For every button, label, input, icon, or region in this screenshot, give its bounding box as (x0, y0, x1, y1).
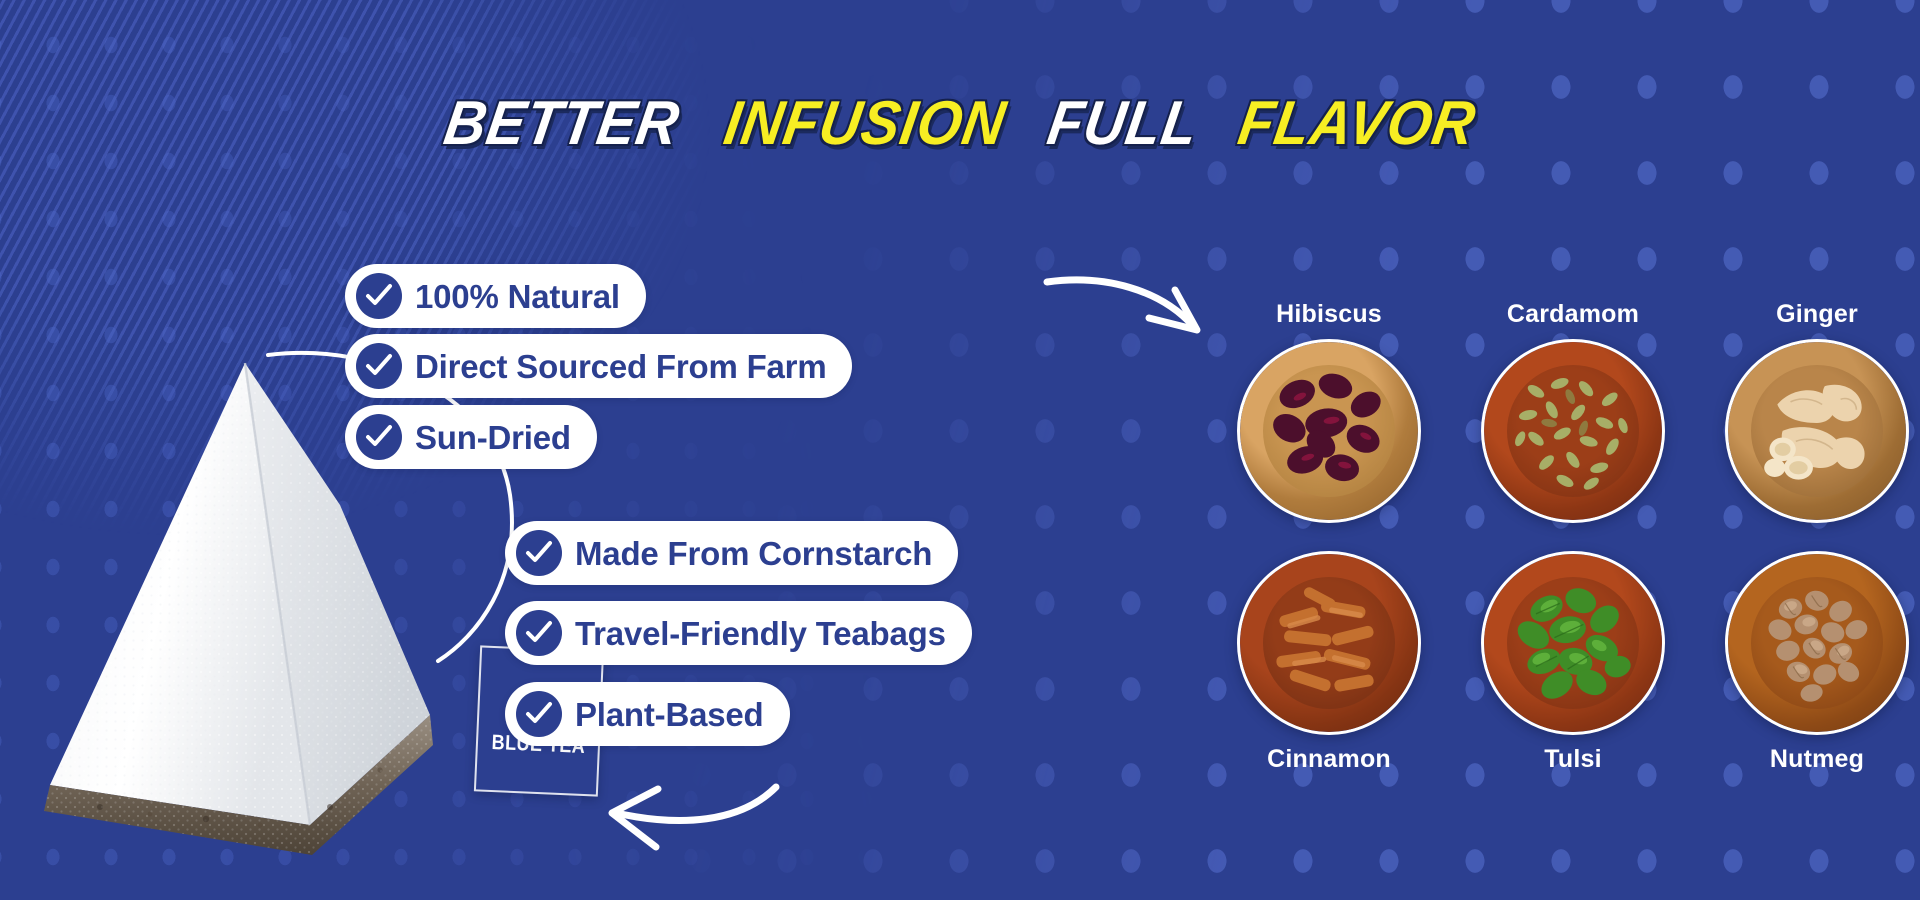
check-icon (356, 414, 402, 460)
ingredient-grid: Hibiscus (1228, 300, 1918, 774)
check-icon (516, 691, 562, 737)
ingredient-label: Nutmeg (1770, 745, 1864, 774)
check-icon (356, 273, 402, 319)
ingredient-tulsi: Tulsi (1472, 541, 1674, 774)
feature-pill-made-from-cornstarch[interactable]: Made From Cornstarch (505, 521, 958, 585)
feature-label: Sun-Dried (415, 421, 571, 454)
feature-pill-plant-based[interactable]: Plant-Based (505, 682, 790, 746)
feature-pill-direct-sourced[interactable]: Direct Sourced From Farm (345, 334, 852, 398)
check-icon (516, 610, 562, 656)
headline-word-4: FLAVOR (1230, 88, 1483, 159)
ingredient-cinnamon: Cinnamon (1228, 541, 1430, 774)
feature-label: Plant-Based (575, 698, 764, 731)
ingredient-cardamom: Cardamom (1472, 300, 1674, 533)
ingredient-label: Cardamom (1507, 300, 1639, 329)
ingredient-label: Cinnamon (1267, 745, 1391, 774)
ingredient-hibiscus: Hibiscus (1228, 300, 1430, 533)
promo-banner: BETTER INFUSION FULL FLAVOR (0, 0, 1920, 900)
arrow-to-teabag-icon (600, 775, 780, 860)
ingredient-bowl (1481, 551, 1665, 735)
ingredient-bowl (1725, 551, 1909, 735)
check-icon (356, 343, 402, 389)
headline-word-2: INFUSION (717, 88, 1014, 159)
headline: BETTER INFUSION FULL FLAVOR (0, 88, 1920, 159)
feature-label: Direct Sourced From Farm (415, 350, 826, 383)
check-icon (516, 530, 562, 576)
feature-pill-travel-friendly-teabags[interactable]: Travel-Friendly Teabags (505, 601, 972, 665)
ingredient-label: Ginger (1776, 300, 1858, 329)
feature-label: Made From Cornstarch (575, 537, 932, 570)
ingredient-nutmeg: Nutmeg (1716, 541, 1918, 774)
feature-pill-sun-dried[interactable]: Sun-Dried (345, 405, 597, 469)
ingredient-bowl (1237, 551, 1421, 735)
headline-word-1: BETTER (437, 88, 687, 159)
ingredient-bowl (1481, 339, 1665, 523)
ingredient-label: Tulsi (1544, 745, 1601, 774)
ingredient-row-top: Hibiscus (1228, 300, 1918, 533)
headline-word-3: FULL (1040, 88, 1206, 159)
arrow-to-ingredients-icon (1043, 268, 1223, 348)
ingredient-label: Hibiscus (1276, 300, 1382, 329)
ingredient-bowl (1725, 339, 1909, 523)
feature-label: 100% Natural (415, 280, 620, 313)
ingredient-row-bottom: Cinnamon (1228, 541, 1918, 774)
feature-pill-100-natural[interactable]: 100% Natural (345, 264, 646, 328)
ingredient-bowl (1237, 339, 1421, 523)
feature-label: Travel-Friendly Teabags (575, 617, 946, 650)
ingredient-ginger: Ginger (1716, 300, 1918, 533)
